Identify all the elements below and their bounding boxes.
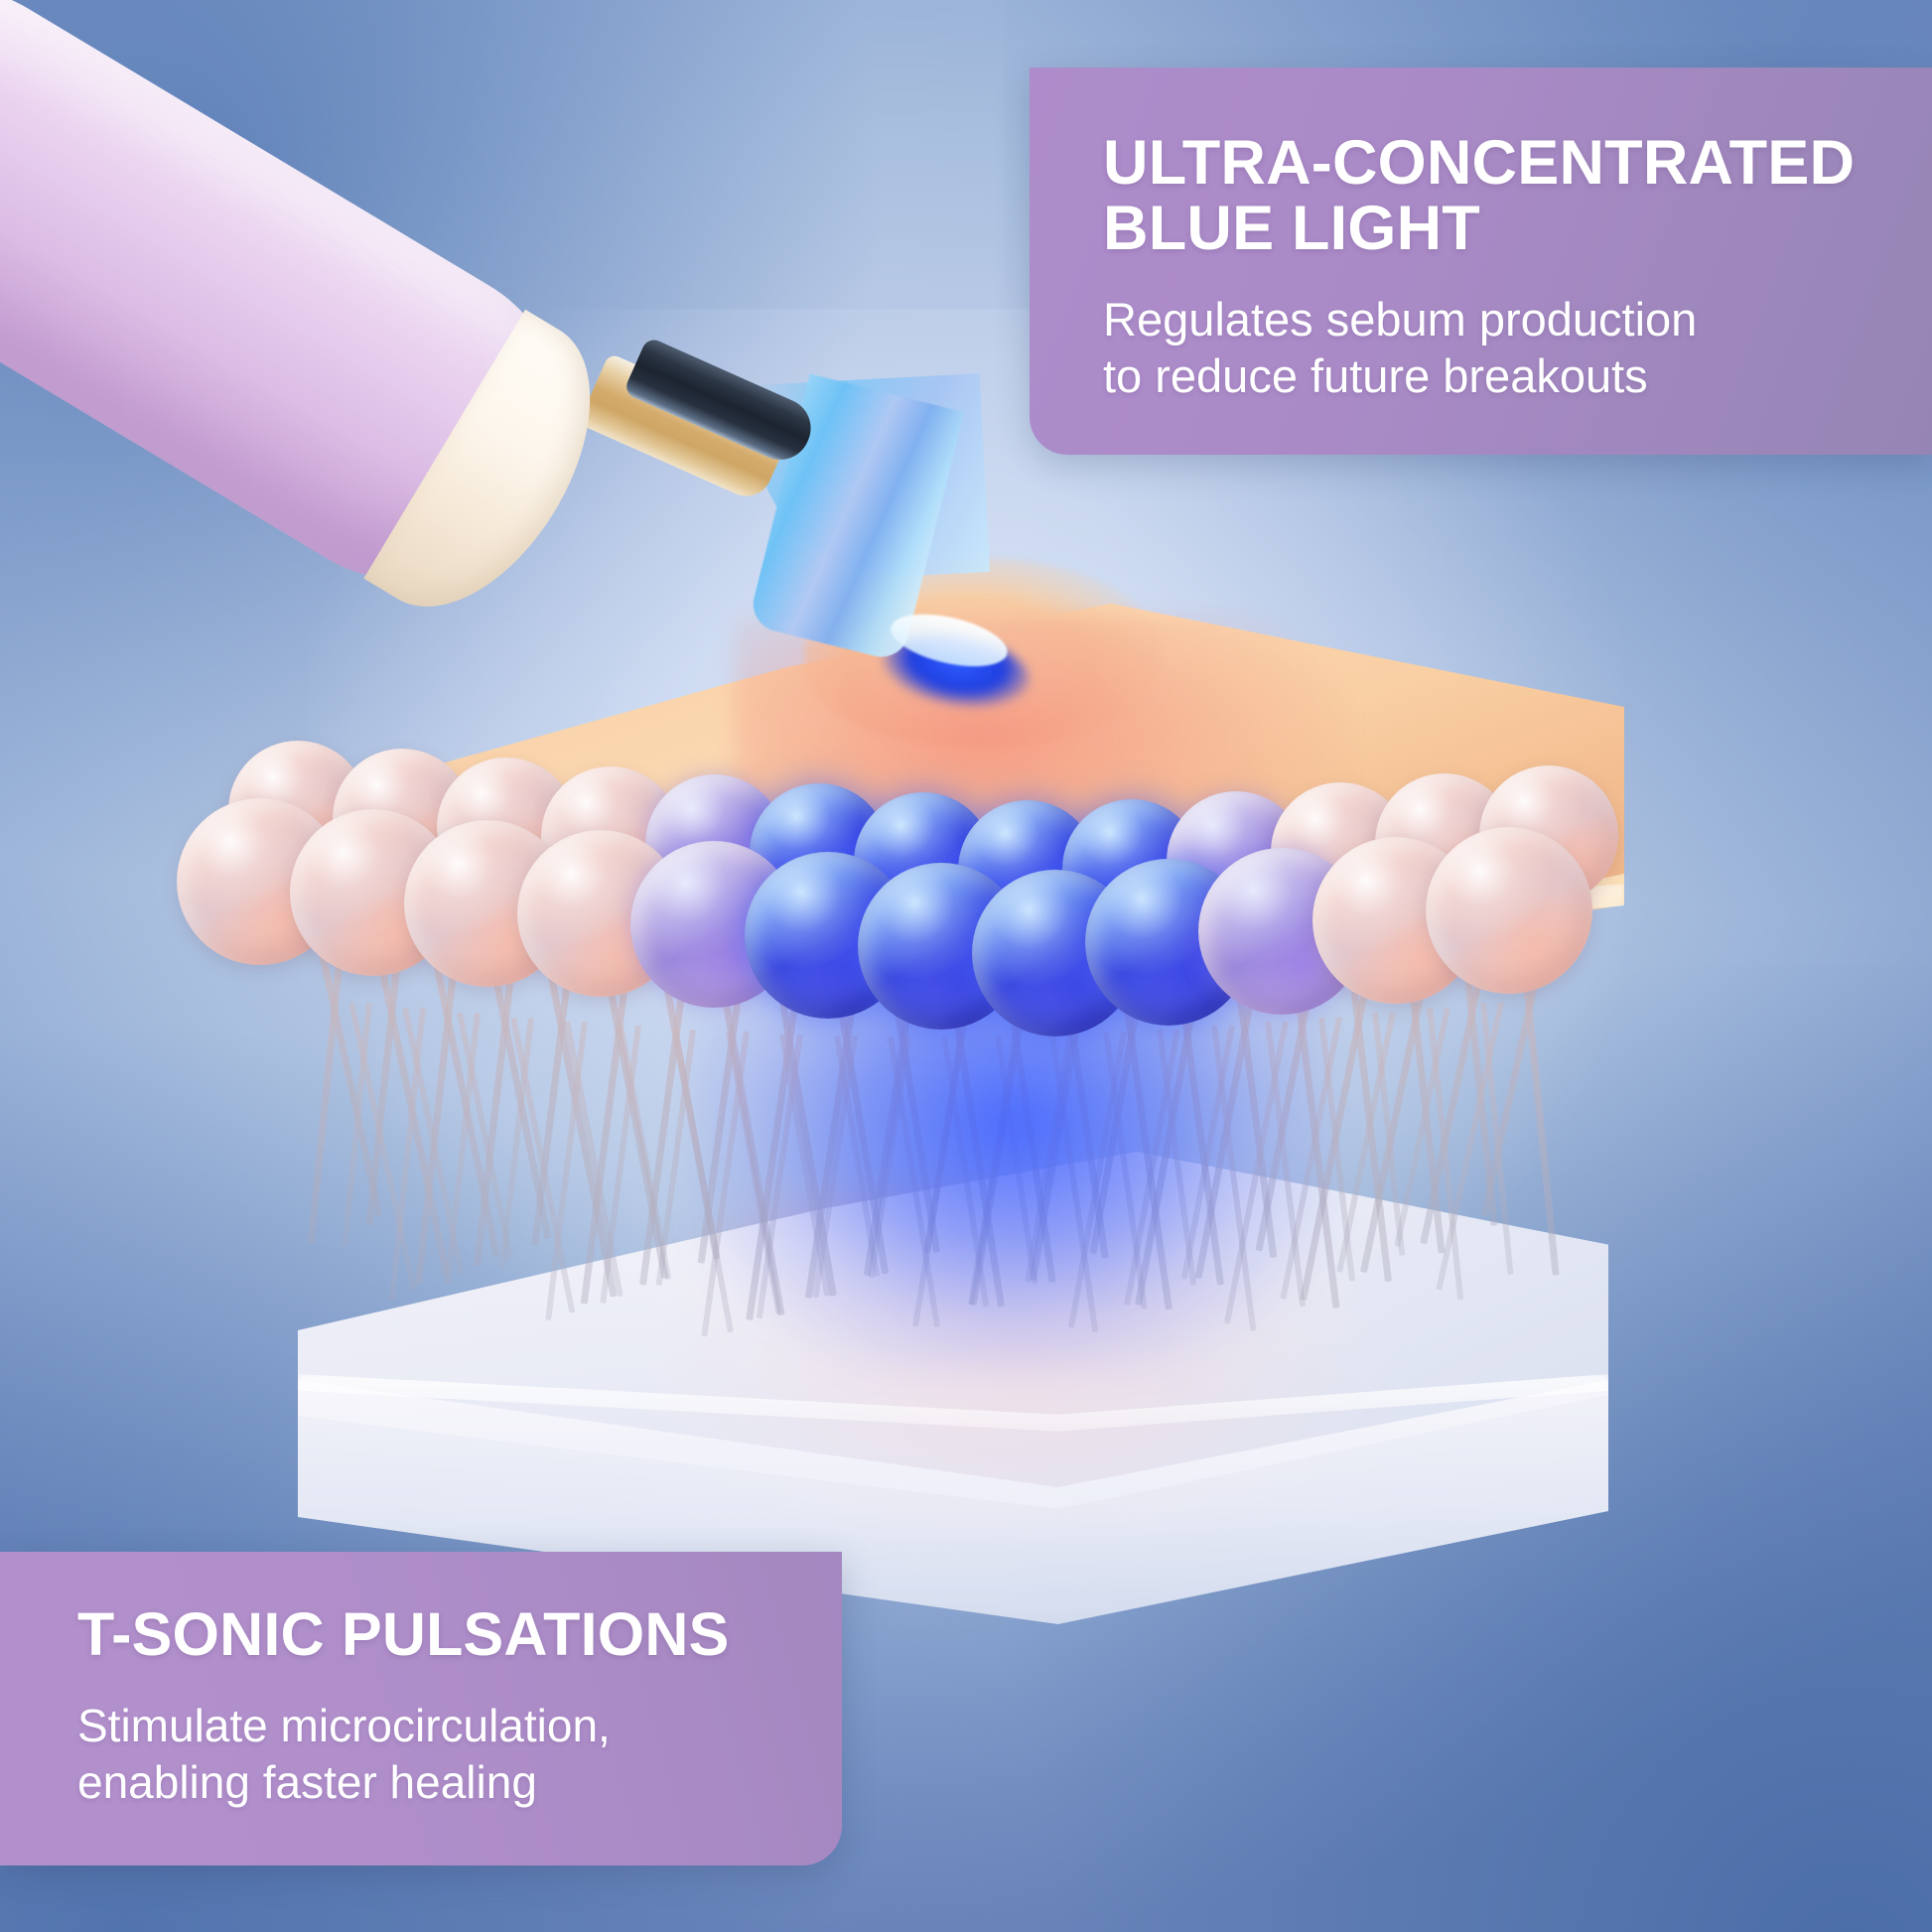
card-subtitle-blue-light: Regulates sebum production to reduce fut… (1103, 291, 1932, 405)
feature-card-t-sonic: T-SONIC PULSATIONS Stimulate microcircul… (0, 1552, 842, 1865)
sebaceous-cell (1426, 827, 1592, 994)
card-subtitle-line-1: Regulates sebum production (1103, 291, 1932, 347)
card-subtitle-line-2: to reduce future breakouts (1103, 347, 1932, 404)
card-subtitle-t-sonic: Stimulate microcirculation, enabling fas… (77, 1698, 842, 1809)
card-subtitle-line-2: enabling faster healing (77, 1754, 842, 1810)
card-title-line-1: T-SONIC PULSATIONS (77, 1603, 842, 1666)
card-subtitle-line-1: Stimulate microcirculation, (77, 1698, 842, 1753)
card-title-blue-light: ULTRA-CONCENTRATED BLUE LIGHT (1103, 131, 1932, 261)
card-title-line-1: ULTRA-CONCENTRATED (1103, 131, 1932, 197)
card-title-t-sonic: T-SONIC PULSATIONS (77, 1603, 842, 1666)
card-title-line-2: BLUE LIGHT (1103, 197, 1932, 262)
feature-card-blue-light: ULTRA-CONCENTRATED BLUE LIGHT Regulates … (1030, 68, 1932, 455)
infographic-canvas: ULTRA-CONCENTRATED BLUE LIGHT Regulates … (0, 0, 1932, 1932)
